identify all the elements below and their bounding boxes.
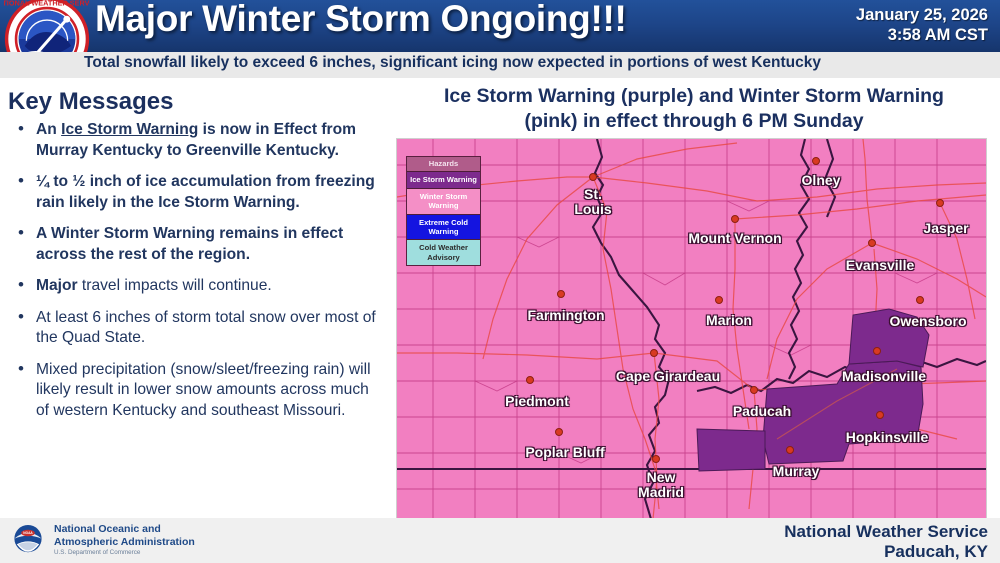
- noaa-department-line: U.S. Department of Commerce: [54, 549, 140, 556]
- key-message-item: At least 6 inches of storm total snow ov…: [14, 308, 386, 349]
- key-message-item: ¼ to ½ inch of ice accumulation from fre…: [14, 172, 386, 213]
- noaa-line-1: National Oceanic and: [54, 523, 195, 536]
- city-marker-dot: [715, 296, 723, 304]
- city-label: Marion: [706, 313, 752, 328]
- nws-seal-icon: NATIONAL WEATHER SERVICE: [4, 0, 90, 52]
- page-title: Major Winter Storm Ongoing!!!: [95, 0, 627, 40]
- city-label: Piedmont: [505, 394, 569, 409]
- office-name: National Weather Service: [784, 522, 988, 542]
- city-marker-dot: [873, 347, 881, 355]
- key-messages-panel: Key Messages An Ice Storm Warning is now…: [0, 78, 392, 518]
- noaa-agency-name: National Oceanic and Atmospheric Adminis…: [54, 523, 195, 548]
- map-title: Ice Storm Warning (purple) and Winter St…: [396, 84, 992, 134]
- city-label: Madisonville: [842, 369, 926, 384]
- city-label: Hopkinsville: [846, 430, 928, 445]
- header-time: 3:58 AM CST: [856, 25, 988, 45]
- city-marker-dot: [555, 428, 563, 436]
- key-message-item: Mixed precipitation (snow/sleet/freezing…: [14, 360, 386, 422]
- key-message-text: Major: [36, 277, 78, 294]
- legend-header: Hazards: [407, 157, 480, 172]
- key-message-text: A Winter Storm Warning remains in effect…: [36, 225, 343, 263]
- city-marker-dot: [876, 411, 884, 419]
- city-marker-dot: [812, 157, 820, 165]
- city-marker-dot: [589, 173, 597, 181]
- footer-bar: NOAA National Oceanic and Atmospheric Ad…: [0, 518, 1000, 563]
- key-message-text: Ice Storm Warning: [61, 121, 198, 138]
- key-message-text: Mixed precipitation (snow/sleet/freezing…: [36, 361, 371, 419]
- key-message-item: An Ice Storm Warning is now in Effect fr…: [14, 120, 386, 161]
- city-label: Mount Vernon: [688, 231, 781, 246]
- noaa-seal-icon: NOAA: [8, 521, 48, 561]
- subtitle-bar: Total snowfall likely to exceed 6 inches…: [0, 52, 1000, 78]
- city-marker-dot: [557, 290, 565, 298]
- key-message-item: A Winter Storm Warning remains in effect…: [14, 224, 386, 265]
- city-label: Cape Girardeau: [616, 369, 720, 384]
- subtitle-text: Total snowfall likely to exceed 6 inches…: [84, 54, 821, 72]
- city-marker-dot: [650, 349, 658, 357]
- legend-item-cold-weather-advisory: Cold Weather Advisory: [407, 240, 480, 265]
- city-label: Evansville: [846, 258, 915, 273]
- city-label: Farmington: [528, 308, 605, 323]
- key-message-text: travel impacts will continue.: [78, 277, 272, 294]
- office-location: Paducah, KY: [784, 542, 988, 562]
- header-bar: NATIONAL WEATHER SERVICE Major Winter St…: [0, 0, 1000, 52]
- city-marker-dot: [868, 239, 876, 247]
- map-title-line1: Ice Storm Warning (purple) and Winter St…: [396, 84, 992, 109]
- key-message-text: ¼ to ½ inch of ice accumulation from fre…: [36, 173, 375, 211]
- city-marker-dot: [786, 446, 794, 454]
- city-marker-dot: [916, 296, 924, 304]
- city-label: Jasper: [923, 221, 968, 236]
- key-message-text: An: [36, 121, 61, 138]
- header-date: January 25, 2026: [856, 5, 988, 25]
- key-messages-list: An Ice Storm Warning is now in Effect fr…: [14, 120, 386, 432]
- city-label: Paducah: [733, 404, 791, 419]
- map-title-line2: (pink) in effect through 6 PM Sunday: [396, 109, 992, 134]
- header-datetime: January 25, 2026 3:58 AM CST: [856, 5, 988, 45]
- city-label: Olney: [802, 173, 841, 188]
- key-message-item: Major travel impacts will continue.: [14, 276, 386, 297]
- office-identifier: National Weather Service Paducah, KY: [784, 522, 988, 562]
- city-label: Owensboro: [889, 314, 966, 329]
- city-label: Murray: [773, 464, 820, 479]
- city-marker-dot: [526, 376, 534, 384]
- svg-text:NOAA: NOAA: [23, 531, 33, 535]
- noaa-line-2: Atmospheric Administration: [54, 536, 195, 549]
- city-marker-dot: [652, 455, 660, 463]
- map-legend: Hazards Ice Storm Warning Winter Storm W…: [406, 156, 481, 266]
- legend-item-ice-storm-warning: Ice Storm Warning: [407, 172, 480, 188]
- svg-text:NATIONAL WEATHER SERVICE: NATIONAL WEATHER SERVICE: [4, 0, 90, 7]
- city-marker-dot: [750, 386, 758, 394]
- map-graphic: [397, 139, 986, 519]
- city-marker-dot: [731, 215, 739, 223]
- hazard-map[interactable]: Hazards Ice Storm Warning Winter Storm W…: [396, 138, 987, 520]
- legend-item-winter-storm-warning: Winter Storm Warning: [407, 189, 480, 215]
- city-label: New Madrid: [638, 470, 684, 500]
- key-messages-title: Key Messages: [8, 88, 173, 116]
- city-marker-dot: [936, 199, 944, 207]
- city-label: Poplar Bluff: [525, 445, 604, 460]
- key-message-text: At least 6 inches of storm total snow ov…: [36, 309, 376, 347]
- legend-item-extreme-cold-warning: Extreme Cold Warning: [407, 215, 480, 241]
- city-label: St. Louis: [574, 187, 611, 217]
